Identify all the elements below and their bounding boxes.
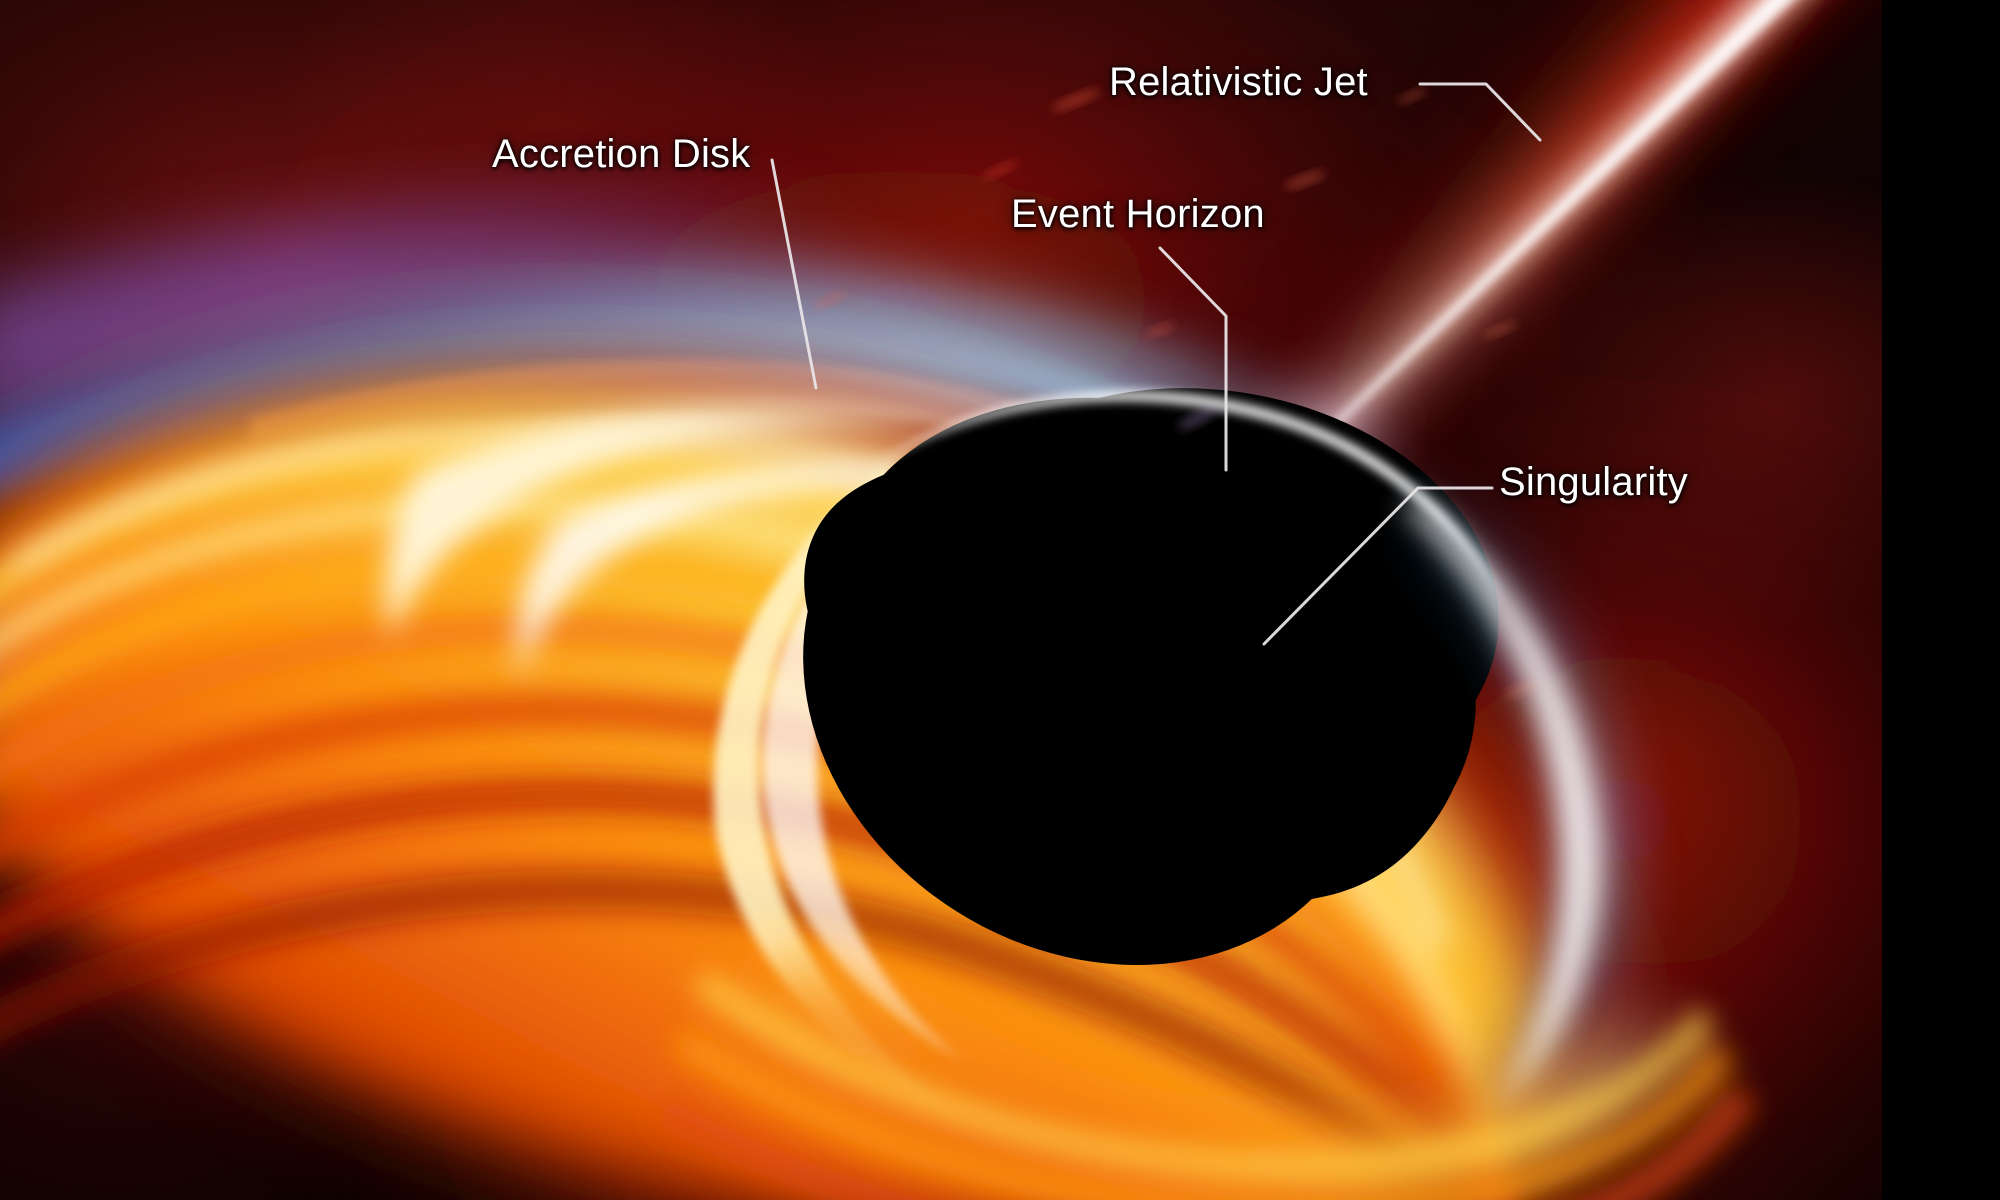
label-accretion-disk: Accretion Disk xyxy=(492,132,750,177)
black-hole-illustration: Accretion Disk Relativistic Jet Event Ho… xyxy=(0,0,1882,1200)
black-hole-svg xyxy=(0,0,1882,1200)
screenshot-root: Accretion Disk Relativistic Jet Event Ho… xyxy=(0,0,2000,1200)
label-event-horizon: Event Horizon xyxy=(1011,192,1265,237)
label-relativistic-jet: Relativistic Jet xyxy=(1109,60,1368,105)
label-singularity: Singularity xyxy=(1499,460,1688,505)
letterbox-bar-right xyxy=(1882,0,2000,1200)
